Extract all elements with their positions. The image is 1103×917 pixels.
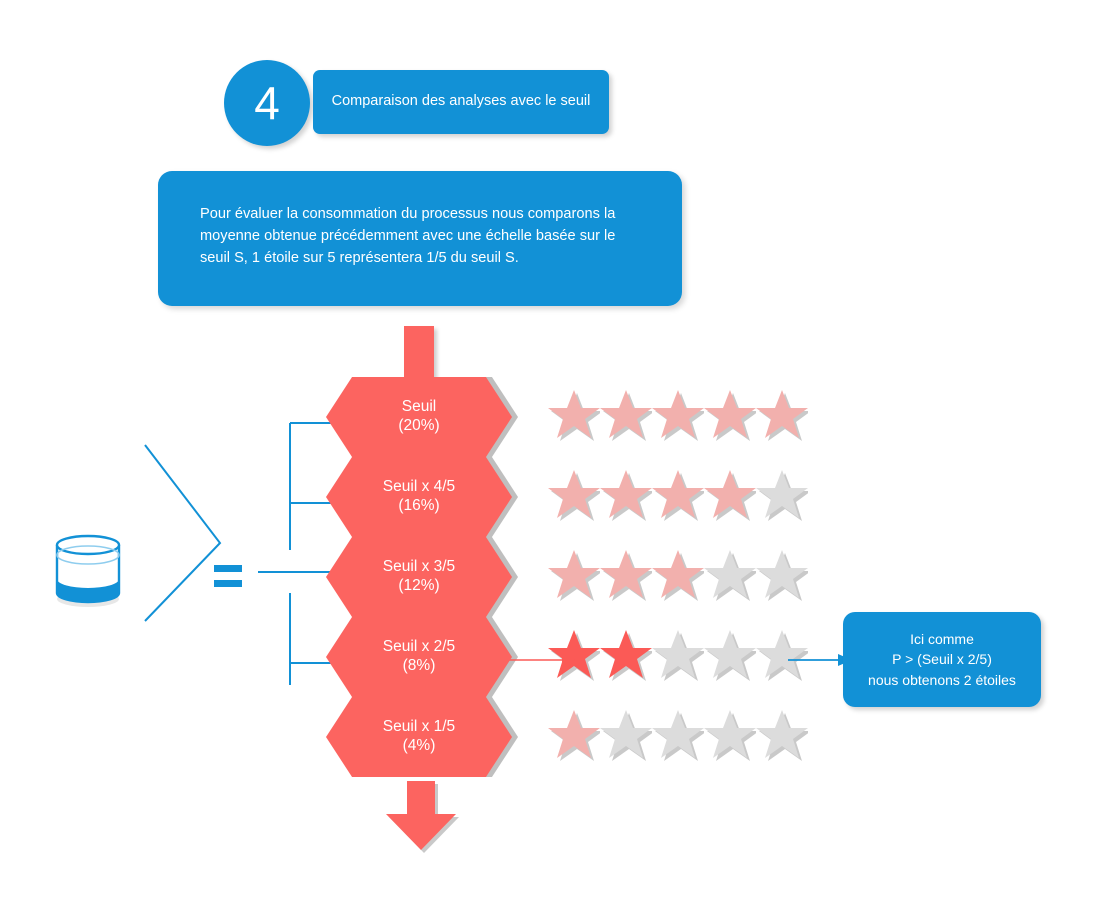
star-icon xyxy=(704,705,756,761)
diagram-canvas: 4 Comparaison des analyses avec le seuil… xyxy=(0,0,1103,917)
threshold-label: Seuil x 3/5 xyxy=(383,558,455,577)
threshold-label: Seuil x 4/5 xyxy=(383,478,455,497)
threshold-percent: (8%) xyxy=(403,657,436,676)
step-number-badge: 4 xyxy=(224,60,310,146)
hexagon-shape: Seuil x 4/5 (16%) xyxy=(326,457,512,537)
callout-line-2: P > (Seuil x 2/5) xyxy=(892,649,992,669)
threshold-label: Seuil x 2/5 xyxy=(383,638,455,657)
star-icon xyxy=(600,625,652,681)
star-icon xyxy=(652,705,704,761)
star-icon xyxy=(756,385,808,441)
flow-arrow-bottom xyxy=(376,778,462,853)
star-row-0 xyxy=(548,385,808,441)
step-title-label: Comparaison des analyses avec le seuil xyxy=(332,92,591,112)
step-number-label: 4 xyxy=(254,76,280,130)
threshold-label: Seuil xyxy=(402,398,436,417)
star-icon xyxy=(704,465,756,521)
step-title-banner: Comparaison des analyses avec le seuil xyxy=(313,70,609,134)
star-icon xyxy=(704,625,756,681)
threshold-label: Seuil x 1/5 xyxy=(383,718,455,737)
star-icon xyxy=(548,385,600,441)
database-cylinder-icon xyxy=(52,531,124,611)
star-row-1 xyxy=(548,465,808,521)
star-icon xyxy=(652,545,704,601)
star-row-4 xyxy=(548,705,808,761)
hexagon-shape: Seuil x 1/5 (4%) xyxy=(326,697,512,777)
threshold-percent: (20%) xyxy=(398,417,439,436)
threshold-level-1[interactable]: Seuil x 4/5 (16%) xyxy=(326,457,518,537)
description-text: Pour évaluer la consommation du processu… xyxy=(200,206,615,266)
star-icon xyxy=(756,545,808,601)
star-icon xyxy=(652,385,704,441)
callout-line-1: Ici comme xyxy=(910,629,974,649)
star-icon xyxy=(756,465,808,521)
hexagon-shape: Seuil (20%) xyxy=(326,377,512,457)
hexagon-shape: Seuil x 2/5 (8%) xyxy=(326,617,512,697)
hexagon-shape: Seuil x 3/5 (12%) xyxy=(326,537,512,617)
star-icon xyxy=(548,465,600,521)
description-box: Pour évaluer la consommation du processu… xyxy=(158,171,682,306)
threshold-percent: (16%) xyxy=(398,497,439,516)
threshold-level-3[interactable]: Seuil x 2/5 (8%) xyxy=(326,617,518,697)
threshold-level-4[interactable]: Seuil x 1/5 (4%) xyxy=(326,697,518,777)
callout-line-3: nous obtenons 2 étoiles xyxy=(868,670,1016,690)
star-icon xyxy=(548,705,600,761)
equals-icon xyxy=(214,565,242,591)
star-row-3 xyxy=(548,625,808,681)
star-icon xyxy=(652,465,704,521)
comparison-branch-connectors xyxy=(120,395,360,685)
star-icon xyxy=(600,385,652,441)
threshold-scale-stack: Seuil (20%) Seuil x 4/5 (16%) Seuil x 3/… xyxy=(326,377,526,777)
star-icon xyxy=(704,545,756,601)
star-icon xyxy=(600,545,652,601)
greater-than-icon xyxy=(145,445,220,621)
star-icon xyxy=(756,705,808,761)
star-rating-rows xyxy=(548,385,808,775)
threshold-level-0[interactable]: Seuil (20%) xyxy=(326,377,518,457)
star-icon xyxy=(548,545,600,601)
star-icon xyxy=(652,625,704,681)
threshold-percent: (12%) xyxy=(398,577,439,596)
threshold-percent: (4%) xyxy=(403,737,436,756)
threshold-level-2[interactable]: Seuil x 3/5 (12%) xyxy=(326,537,518,617)
result-callout-box: Ici comme P > (Seuil x 2/5) nous obtenon… xyxy=(843,612,1041,707)
star-row-2 xyxy=(548,545,808,601)
star-icon xyxy=(600,705,652,761)
star-icon xyxy=(600,465,652,521)
star-icon xyxy=(704,385,756,441)
